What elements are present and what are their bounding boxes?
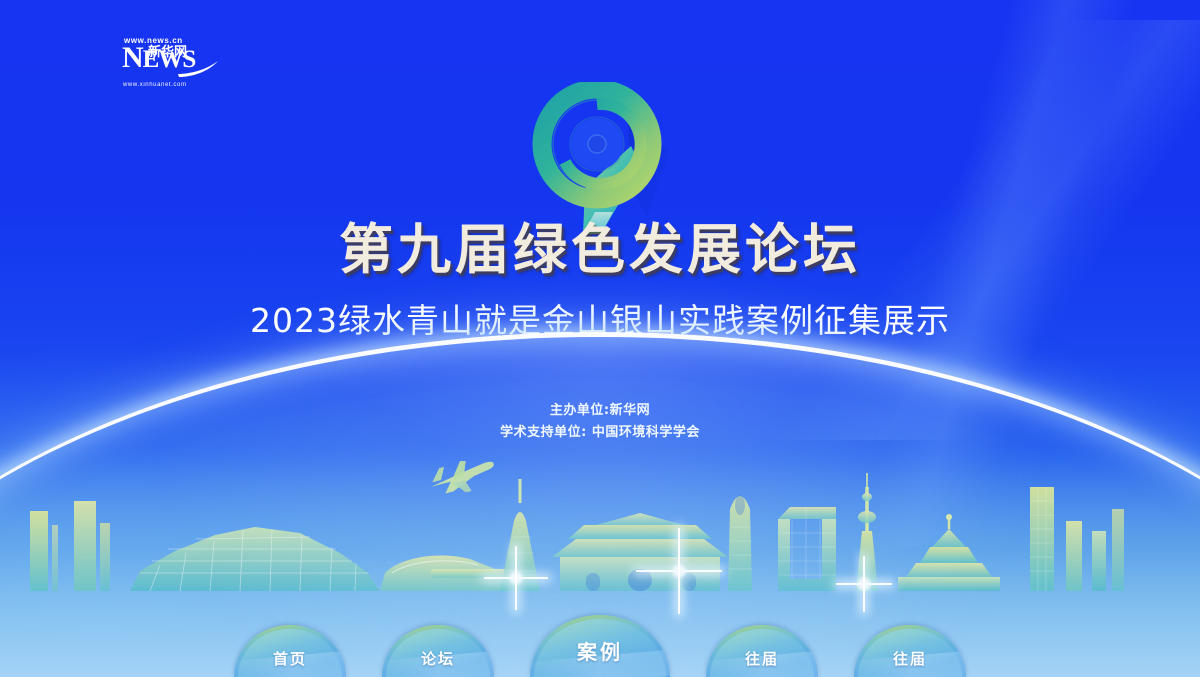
- logo-url-bottom: www.xinhuanet.com: [123, 81, 218, 90]
- nav-item-past-1[interactable]: 往届: [706, 625, 818, 677]
- organizer-host: 主办单位:新华网: [0, 400, 1200, 422]
- logo-letter-n: N: [122, 41, 143, 74]
- nav-item-forum[interactable]: 论坛: [382, 625, 494, 677]
- logo-wordmark-group: NEWS 新华网: [122, 45, 218, 81]
- nav-item-label: 往届: [745, 648, 779, 677]
- nav-item-cases[interactable]: 案例: [530, 615, 670, 677]
- organizer-academic-support: 学术支持单位: 中国环境科学学会: [0, 422, 1200, 444]
- nav-item-label: 首页: [273, 648, 307, 677]
- organizer-block: 主办单位:新华网 学术支持单位: 中国环境科学学会: [0, 400, 1200, 444]
- xinhua-net-logo[interactable]: www.news.cn NEWS 新华网 www.xinhuanet.com: [122, 36, 218, 94]
- main-navigation: 首页 论坛 案例 往届 往届: [0, 617, 1200, 677]
- logo-swoosh-icon: [178, 61, 220, 77]
- forum-landing-page: www.news.cn NEWS 新华网 www.xinhuanet.com: [0, 0, 1200, 677]
- nav-item-label: 论坛: [421, 648, 455, 677]
- page-title: 第九届绿色发展论坛: [0, 220, 1200, 280]
- nav-item-label: 往届: [893, 648, 927, 677]
- page-subtitle: 2023绿水青山就是金山银山实践案例征集展示: [0, 302, 1200, 340]
- nav-item-past-2[interactable]: 往届: [854, 625, 966, 677]
- logo-chinese-name: 新华网: [148, 46, 187, 59]
- nav-item-label: 案例: [577, 636, 623, 677]
- nav-item-home[interactable]: 首页: [234, 625, 346, 677]
